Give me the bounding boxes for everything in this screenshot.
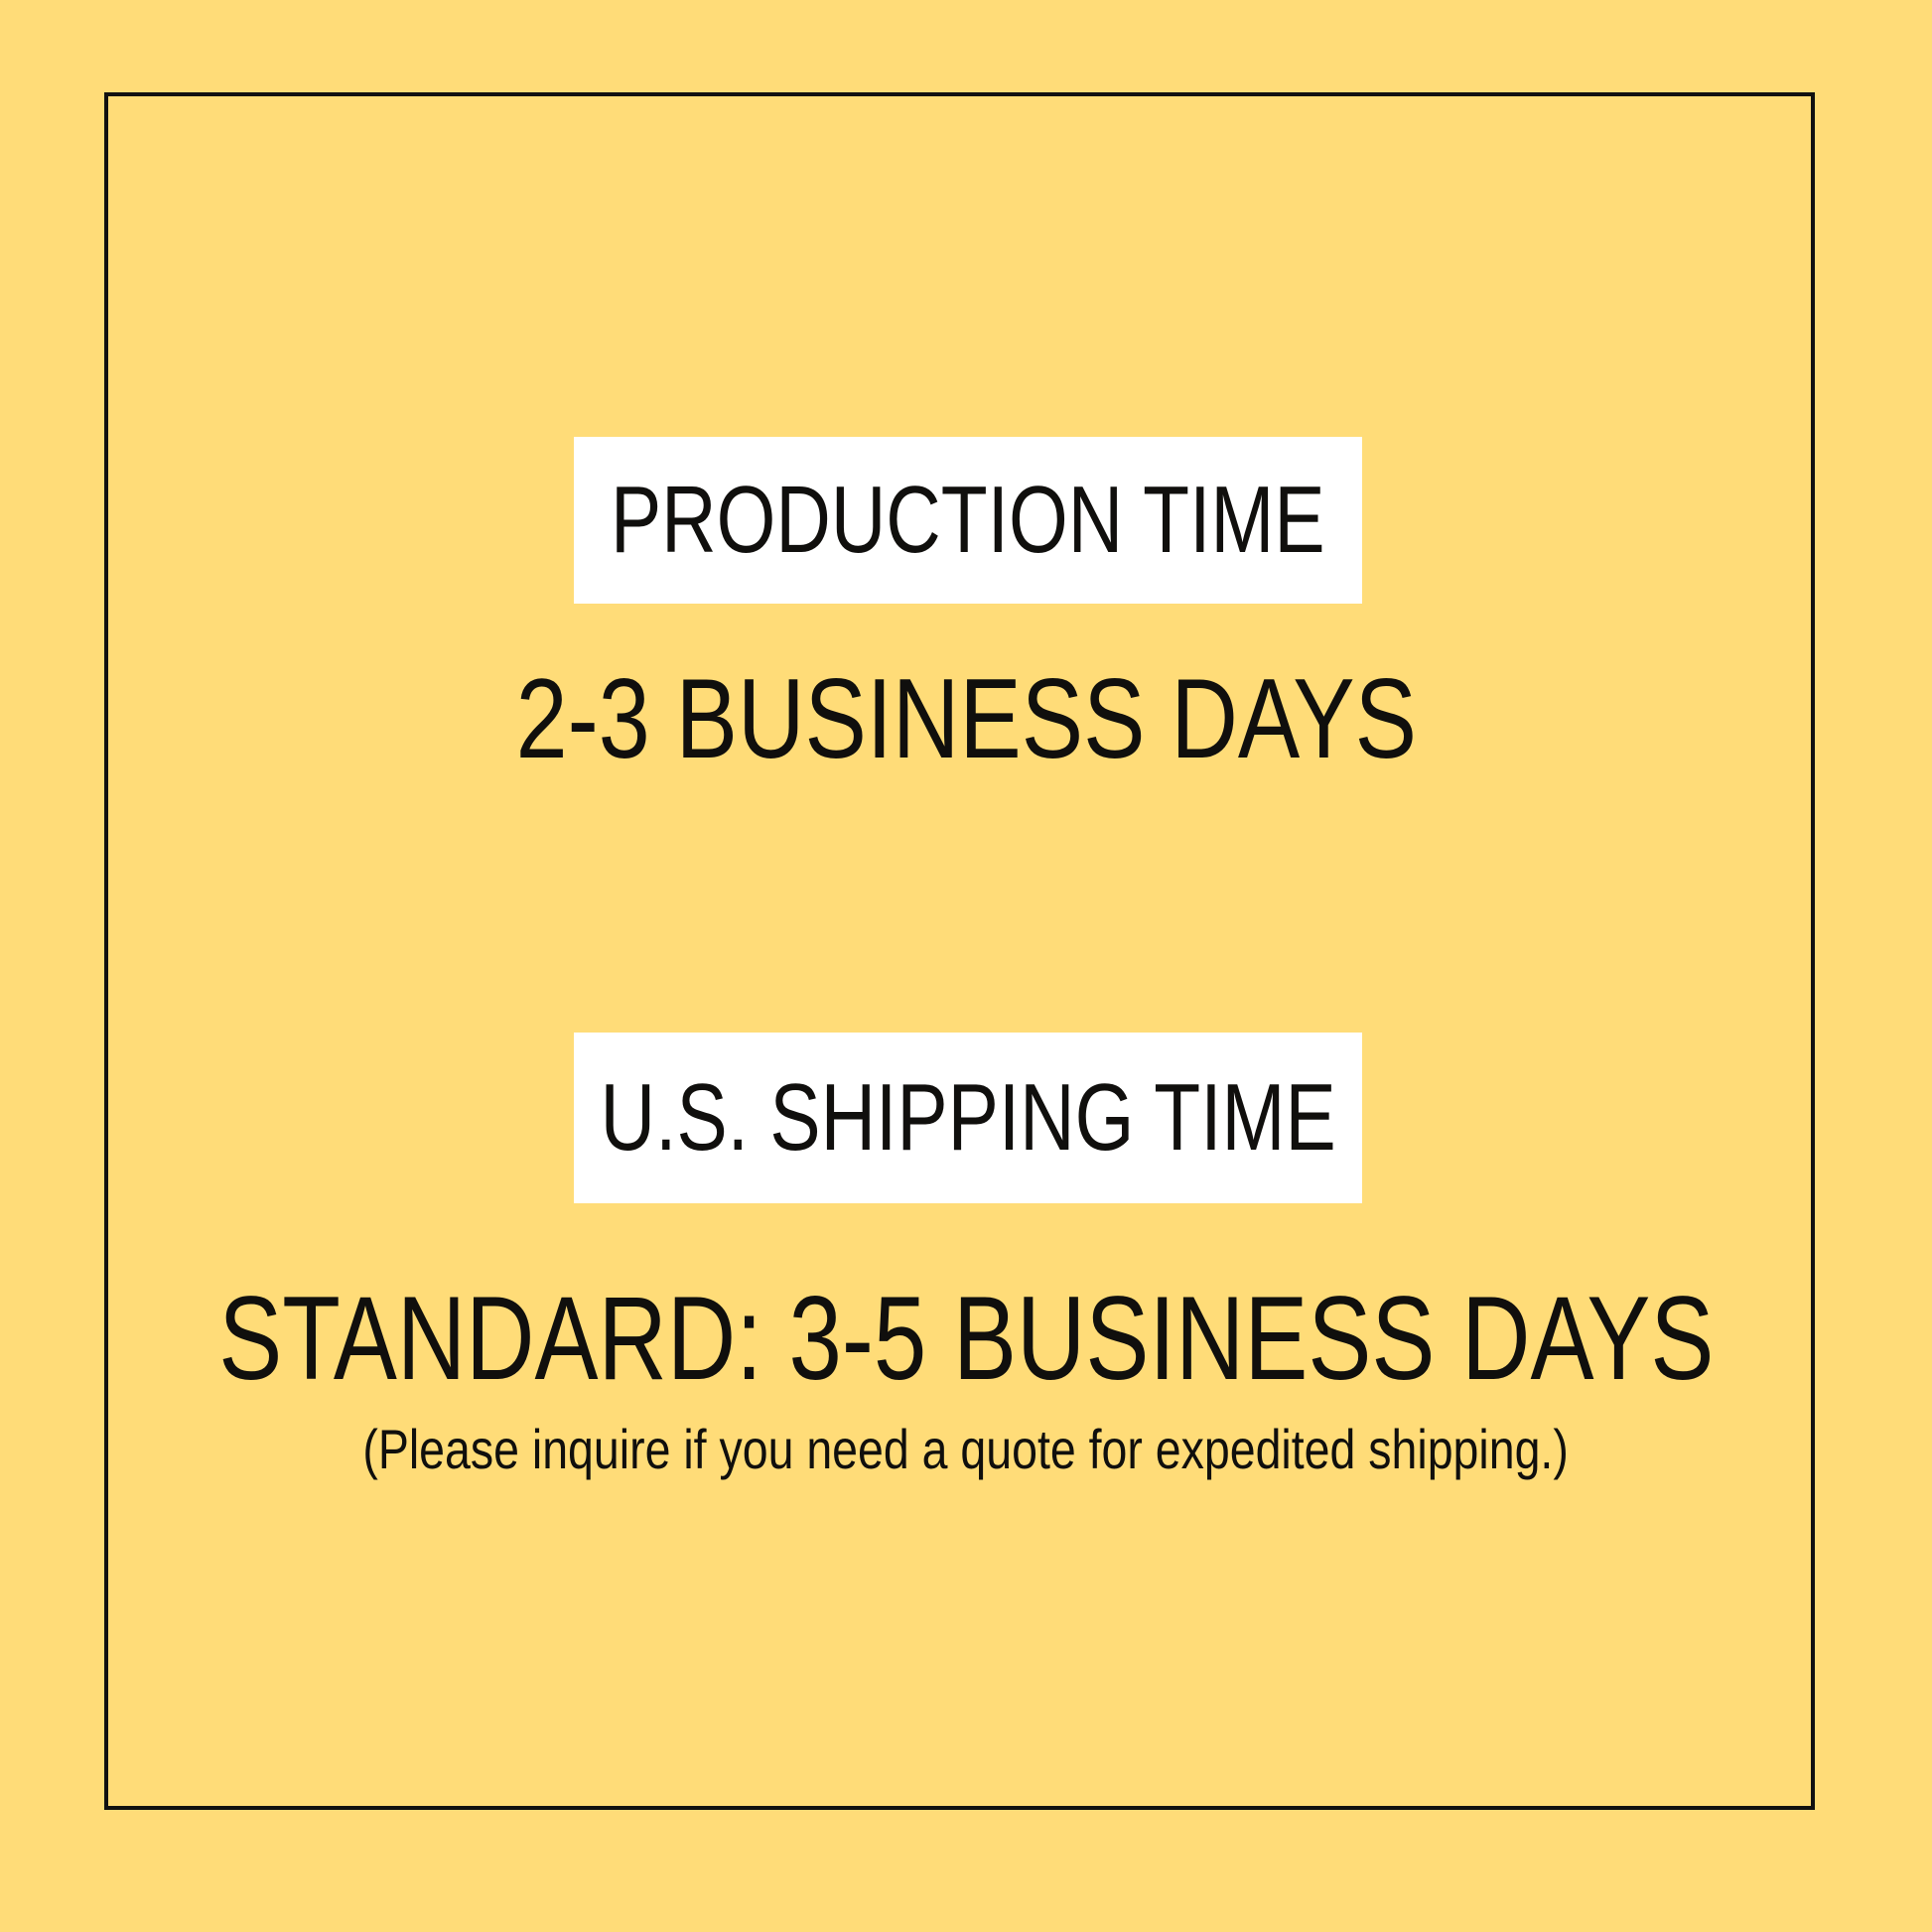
expedited-shipping-note-row: (Please inquire if you need a quote for … <box>0 1422 1932 1477</box>
shipping-time-label: U.S. SHIPPING TIME <box>600 1070 1335 1166</box>
shipping-time-label-plate: U.S. SHIPPING TIME <box>574 1033 1362 1203</box>
shipping-time-value-row: STANDARD: 3-5 BUSINESS DAYS <box>0 1279 1932 1398</box>
shipping-time-value: STANDARD: 3-5 BUSINESS DAYS <box>218 1279 1714 1398</box>
production-time-label-plate: PRODUCTION TIME <box>574 437 1362 604</box>
production-time-value-row: 2-3 BUSINESS DAYS <box>0 663 1932 776</box>
expedited-shipping-note: (Please inquire if you need a quote for … <box>363 1422 1569 1477</box>
production-time-value: 2-3 BUSINESS DAYS <box>515 663 1416 776</box>
shipping-info-graphic: PRODUCTION TIME 2-3 BUSINESS DAYS U.S. S… <box>0 0 1932 1932</box>
decorative-border-frame <box>104 92 1815 1810</box>
production-time-label: PRODUCTION TIME <box>611 473 1325 568</box>
